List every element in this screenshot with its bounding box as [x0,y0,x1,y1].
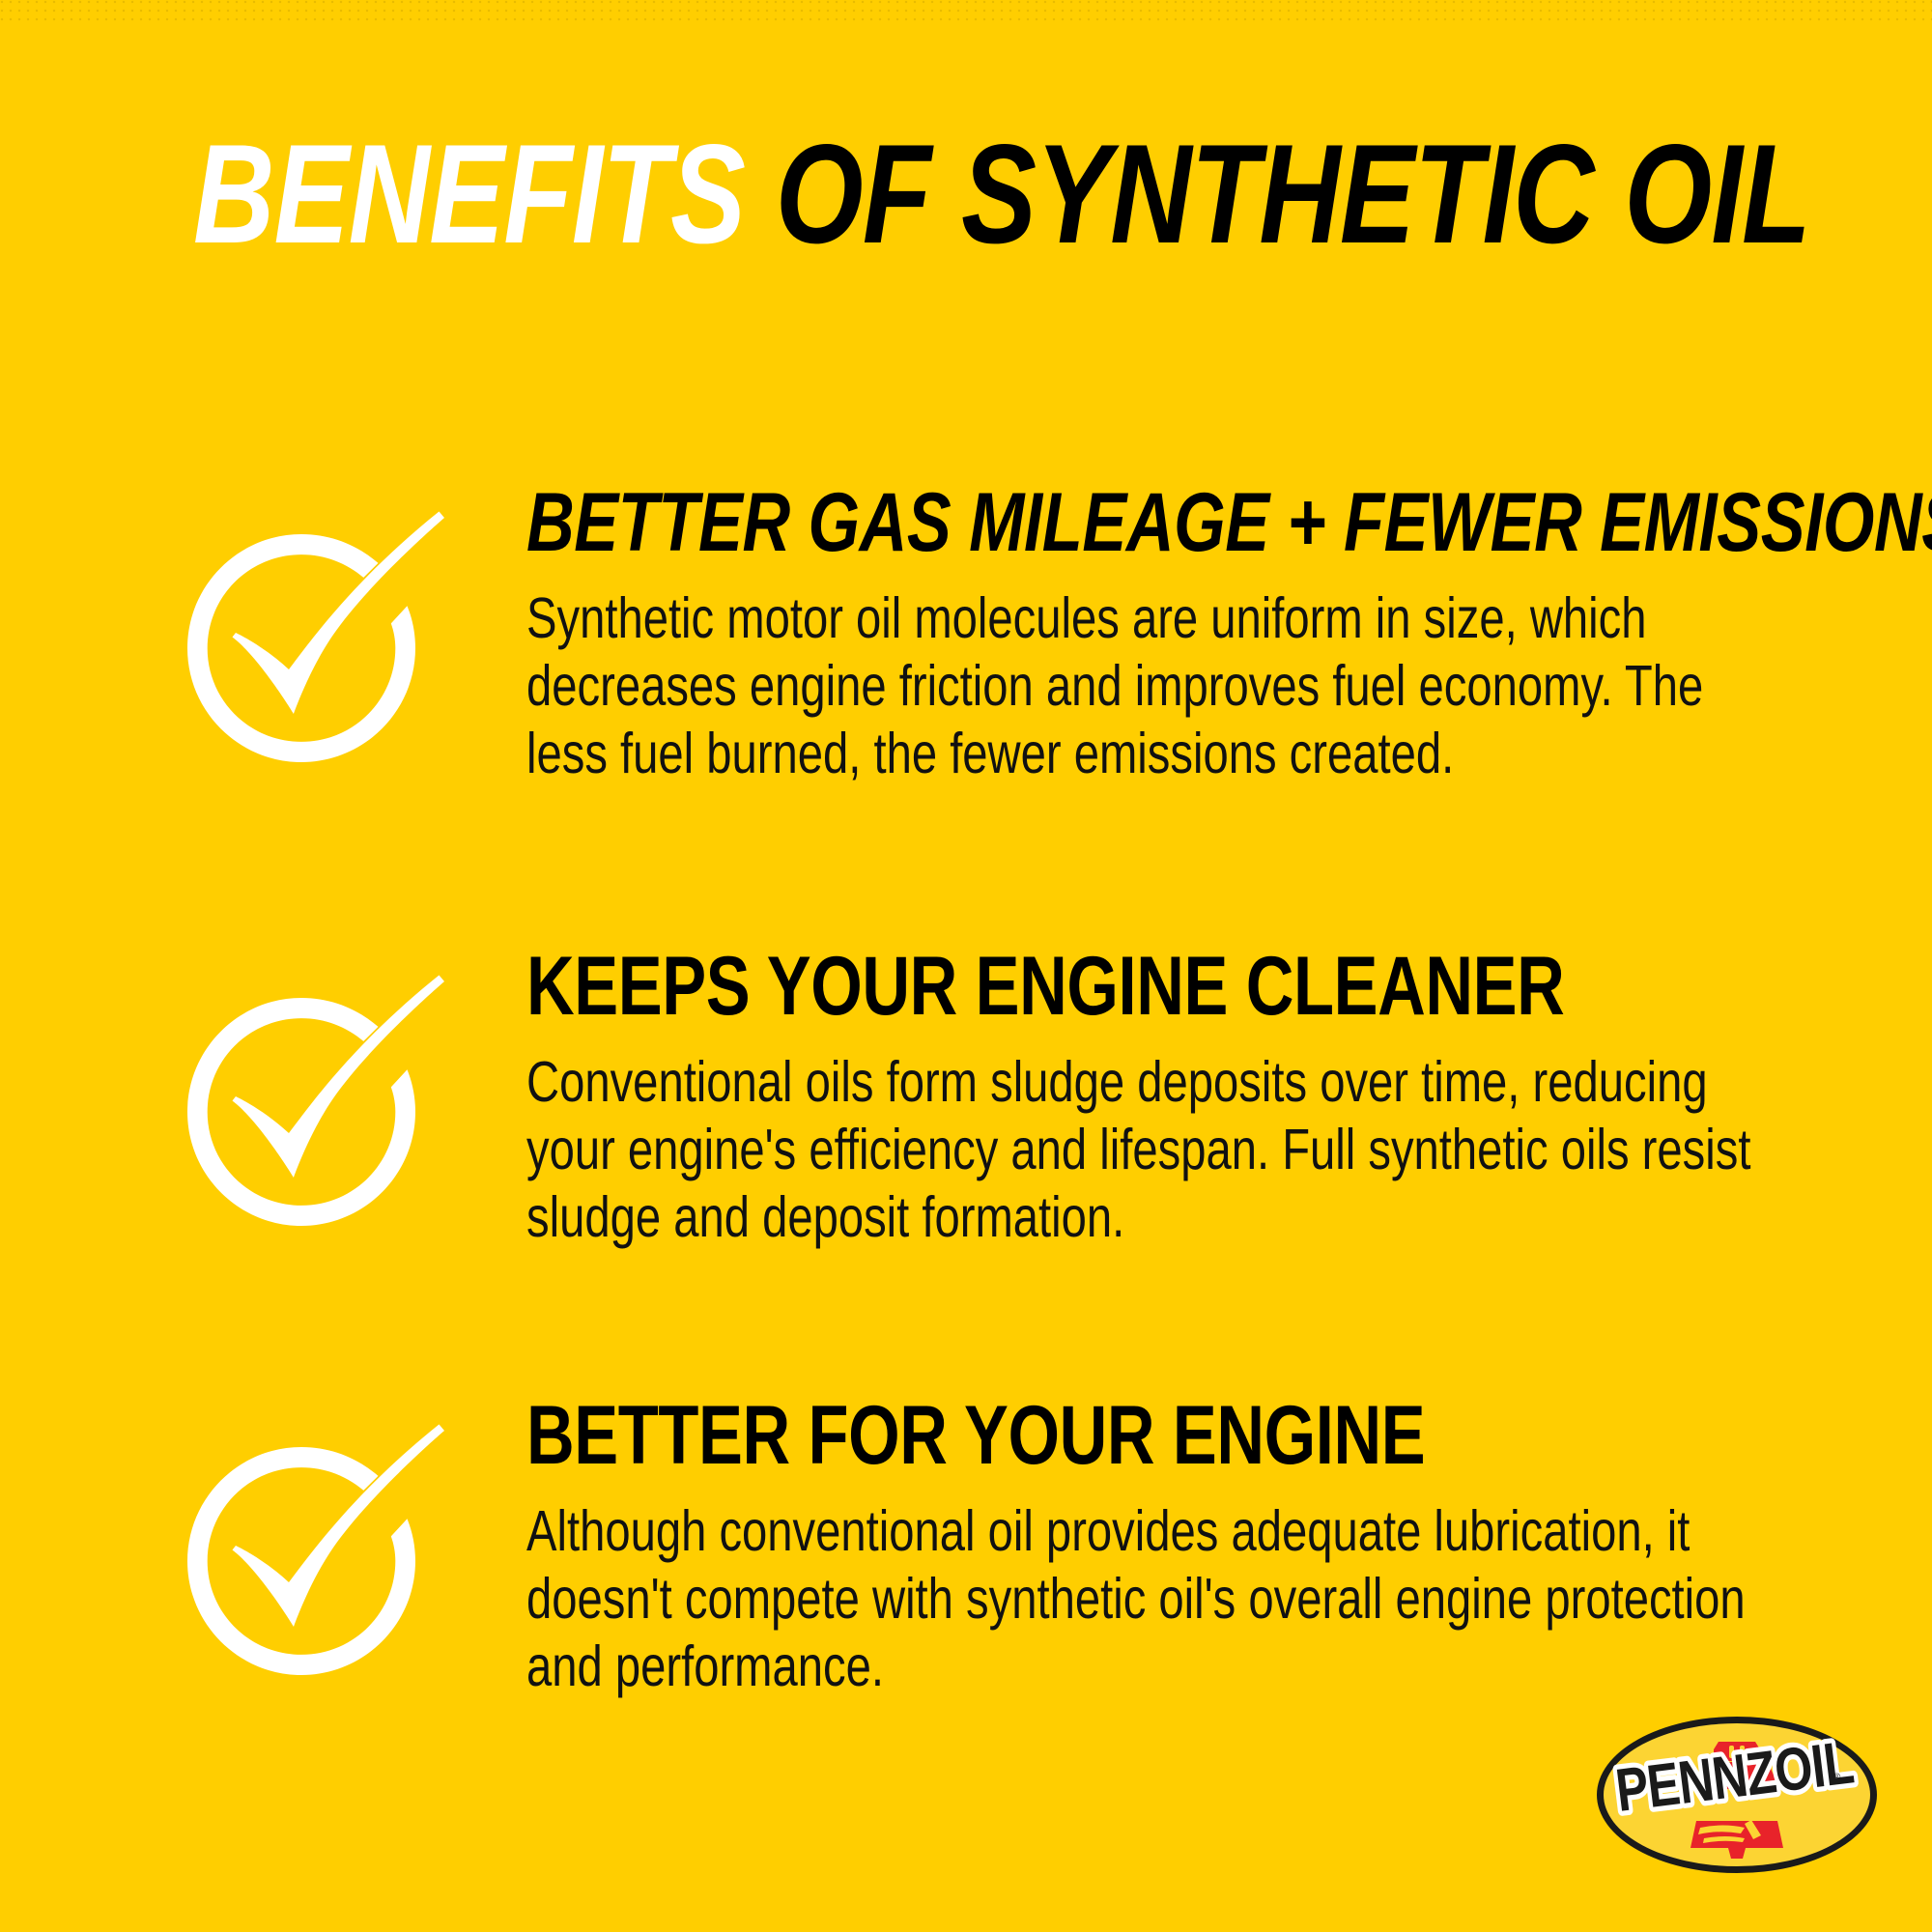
benefit-text-column: BETTER FOR YOUR ENGINE Although conventi… [526,1396,1782,1700]
page-title-highlight: BENEFITS [193,115,745,272]
benefit-body: Conventional oils form sludge deposits o… [526,1048,1782,1252]
benefit-text-column: BETTER GAS MILEAGE + FEWER EMISSIONS Syn… [526,483,1782,787]
pennzoil-logo: PENNZOIL ® [1592,1712,1882,1878]
benefit-body: Synthetic motor oil molecules are unifor… [526,584,1782,788]
benefit-heading: KEEPS YOUR ENGINE CLEANER [526,947,1531,1027]
page-title: BENEFITS OF SYNTHETIC OIL [193,124,1739,265]
top-halftone-texture [0,0,1932,21]
registered-trademark-icon: ® [1833,1772,1842,1784]
benefit-heading: BETTER GAS MILEAGE + FEWER EMISSIONS [526,483,1531,563]
check-circle-icon [162,954,481,1273]
benefit-text-column: KEEPS YOUR ENGINE CLEANER Conventional o… [526,947,1782,1251]
check-circle-icon [162,1404,481,1722]
benefit-body: Although conventional oil provides adequ… [526,1497,1782,1701]
benefit-heading: BETTER FOR YOUR ENGINE [526,1396,1531,1476]
check-circle-icon [162,491,481,810]
page-title-rest: OF SYNTHETIC OIL [776,115,1810,272]
